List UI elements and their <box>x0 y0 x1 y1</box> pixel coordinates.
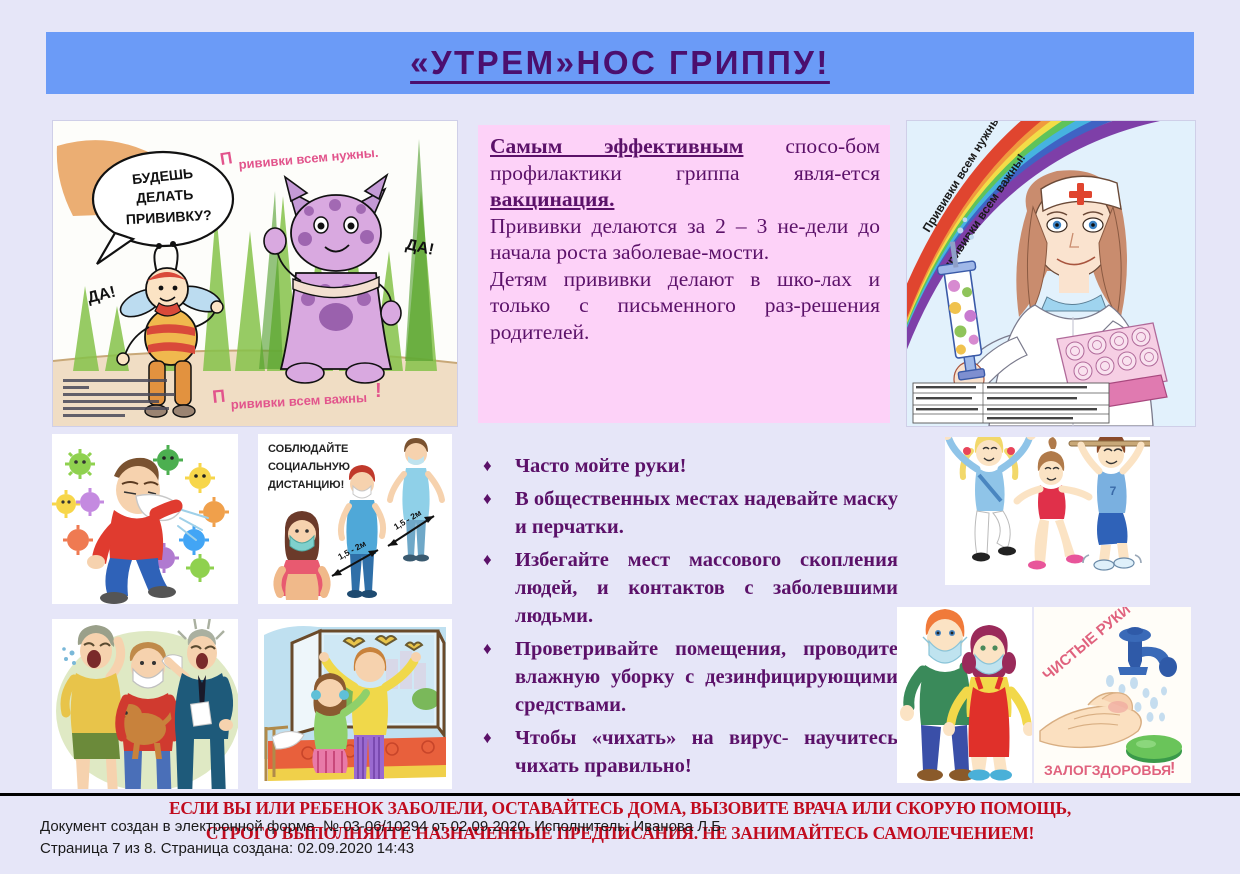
page-title: «УТРЕМ»НОС ГРИППУ! <box>410 44 830 82</box>
list-item: ♦ В общественных местах надевайте маску … <box>478 485 898 541</box>
picture-exercise-kids: 7 <box>945 437 1150 585</box>
info-paragraph-3: Детям прививки делают в шко-лах и только… <box>490 266 880 346</box>
picture-man-sneezing <box>52 434 238 604</box>
list-item: ♦ Избегайте мест массового скопления люд… <box>478 546 898 630</box>
list-item: ♦ Часто мойте руки! <box>478 452 898 480</box>
bullet-diamond-icon: ♦ <box>478 485 515 541</box>
list-item: ♦ Чтобы «чихать» на вирус- научитесь чих… <box>478 724 898 780</box>
distance-caption-1: СОБЛЮДАЙТЕ <box>268 442 348 455</box>
list-item-label: Чтобы «чихать» на вирус- научитесь чихат… <box>515 724 898 780</box>
bullet-diamond-icon: ♦ <box>478 724 515 780</box>
list-item: ♦ Проветривайте помещения, проводите вла… <box>478 635 898 719</box>
info-paragraph-1: Самым эффективным спосо-бом профилактики… <box>490 133 880 213</box>
list-item-label: Избегайте мест массового скопления людей… <box>515 546 898 630</box>
picture-child-drawing-bee: БУДЕШЬ ДЕЛАТЬ ПРИВИВКУ? П рививки всем н… <box>52 120 458 427</box>
vaccination-info-box: Самым эффективным спосо-бом профилактики… <box>478 125 890 423</box>
picture-child-drawing-nurse: Прививки всем нужны, прививки всем важны… <box>906 120 1196 427</box>
info-bold-lead: Самым эффективным <box>490 134 743 158</box>
info-bold-vaccination: вакцинация. <box>490 187 614 211</box>
svg-text:П: П <box>211 386 226 407</box>
stamp-line-1: Документ создан в электронной форме. № 0… <box>40 816 725 838</box>
poster-page: «УТРЕМ»НОС ГРИППУ! <box>0 0 1240 874</box>
clean-hands-text-bottom: ЗАЛОГЗДОРОВЬЯ <box>1044 762 1171 778</box>
distance-caption-2: СОЦИАЛЬНУЮ <box>268 461 350 473</box>
picture-clean-hands: ЧИСТЫЕ РУКИ – <box>1034 607 1191 783</box>
picture-open-window <box>258 619 452 789</box>
title-banner: «УТРЕМ»НОС ГРИППУ! <box>46 32 1194 94</box>
prevention-tips-list: ♦ Часто мойте руки! ♦ В общественных мес… <box>478 452 898 785</box>
stamp-line-2: Страница 7 из 8. Страница создана: 02.09… <box>40 838 725 860</box>
svg-text:7: 7 <box>1110 484 1117 498</box>
svg-text:!: ! <box>375 380 382 402</box>
distance-caption-3: ДИСТАНЦИЮ! <box>268 479 344 491</box>
bullet-diamond-icon: ♦ <box>478 635 515 719</box>
picture-social-distancing: СОБЛЮДАЙТЕ СОЦИАЛЬНУЮ ДИСТАНЦИЮ! <box>258 434 452 604</box>
info-paragraph-2: Прививки делаются за 2 – 3 не-дели до на… <box>490 213 880 266</box>
list-item-label: Часто мойте руки! <box>515 452 898 480</box>
list-item-label: Проветривайте помещения, проводите влажн… <box>515 635 898 719</box>
list-item-label: В общественных местах надевайте маску и … <box>515 485 898 541</box>
bullet-diamond-icon: ♦ <box>478 546 515 630</box>
bullet-diamond-icon: ♦ <box>478 452 515 480</box>
picture-masked-kids <box>897 607 1032 783</box>
picture-sick-people <box>52 619 238 789</box>
electronic-document-stamp: Документ создан в электронной форме. № 0… <box>40 816 725 860</box>
svg-text:!: ! <box>1170 760 1175 777</box>
